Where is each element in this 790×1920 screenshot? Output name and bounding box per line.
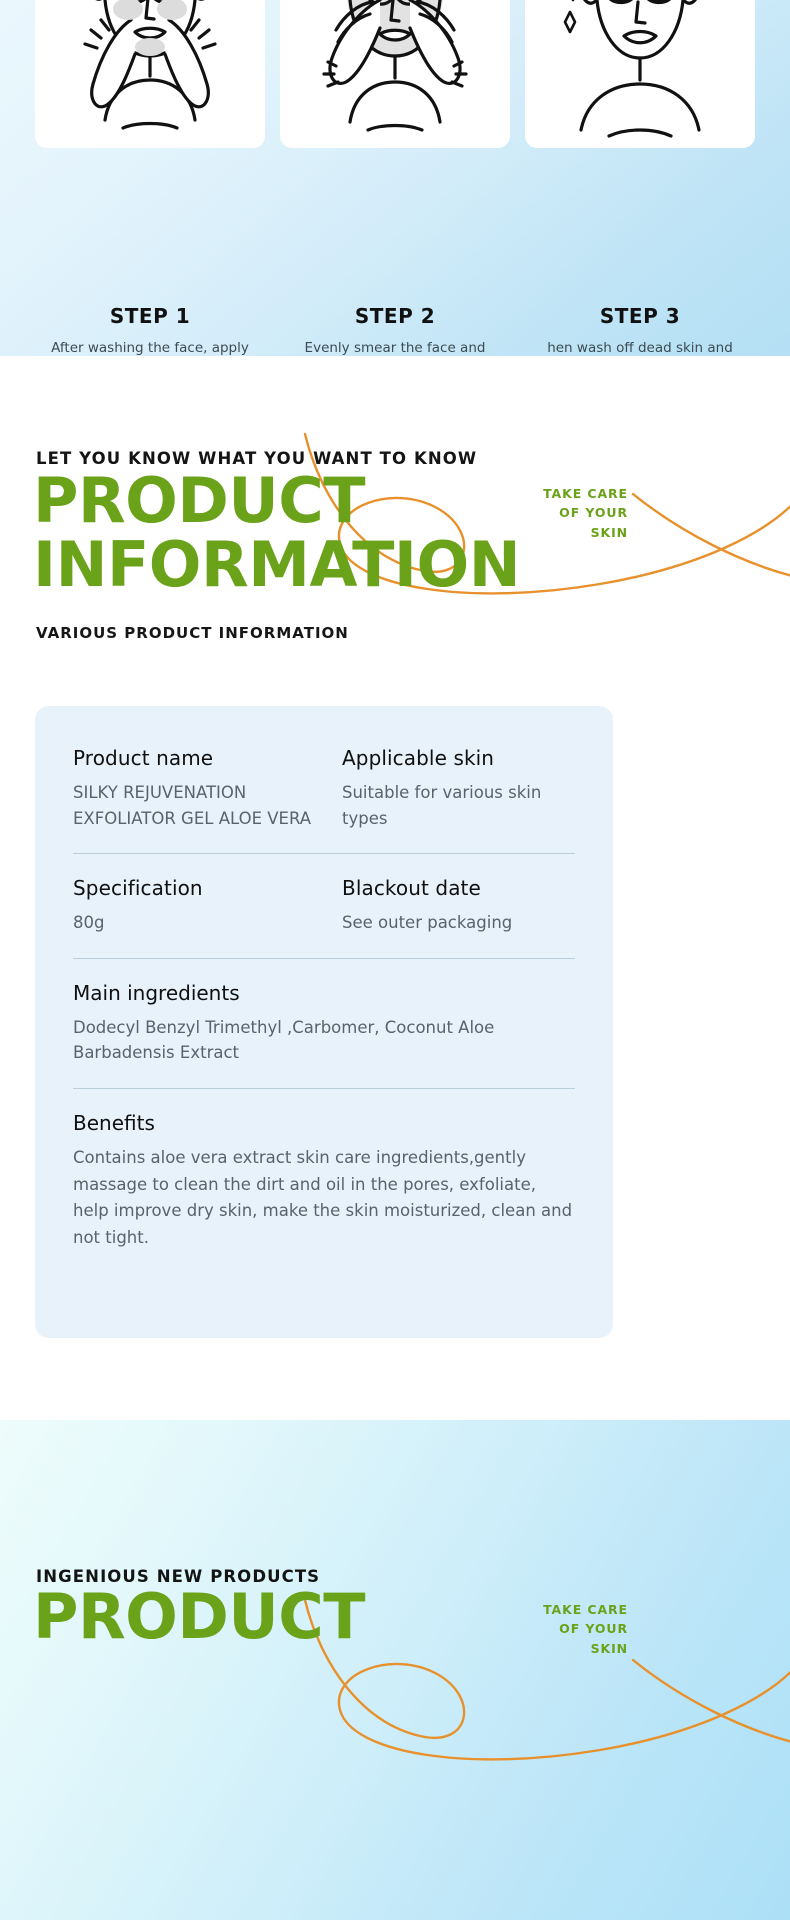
specification-label: Specification xyxy=(73,876,324,900)
details-row-1: Product name SILKY REJUVENATION EXFOLIAT… xyxy=(73,746,575,831)
step-card: STEP 3 hen wash off dead skin and cutin … xyxy=(525,0,755,356)
step-title: STEP 3 xyxy=(525,304,755,328)
row-divider xyxy=(73,853,575,854)
main-ingredients-label: Main ingredients xyxy=(73,981,575,1005)
usage-steps-section: STEP 1 After washing the face, apply pro… xyxy=(0,0,790,356)
benefits-value: Contains aloe vera extract skin care ing… xyxy=(73,1145,575,1252)
page-title-line2: INFORMATION xyxy=(33,533,520,597)
woman-applying-product-icon xyxy=(35,0,265,148)
step-title: STEP 2 xyxy=(280,304,510,328)
specification-field: Specification 80g xyxy=(73,876,324,936)
step-description: After washing the face, apply proper amo… xyxy=(35,338,265,356)
take-care-badge-2: TAKE CARE OF YOUR SKIN xyxy=(518,1600,628,1658)
step-description: hen wash off dead skin and cutin for nor… xyxy=(525,338,755,356)
benefits-label: Benefits xyxy=(73,1111,575,1135)
specification-value: 80g xyxy=(73,910,324,936)
step-title: STEP 1 xyxy=(35,304,265,328)
main-ingredients-field: Main ingredients Dodecyl Benzyl Trimethy… xyxy=(73,981,575,1066)
product-details-card: Product name SILKY REJUVENATION EXFOLIAT… xyxy=(35,706,613,1338)
take-care-badge: TAKE CARE OF YOUR SKIN xyxy=(518,484,628,542)
steps-row: STEP 1 After washing the face, apply pro… xyxy=(35,0,755,356)
details-row-2: Specification 80g Blackout date See oute… xyxy=(73,876,575,936)
product-name-value: SILKY REJUVENATION EXFOLIATOR GEL ALOE V… xyxy=(73,780,324,831)
main-ingredients-value: Dodecyl Benzyl Trimethyl ,Carbomer, Coco… xyxy=(73,1015,575,1066)
woman-massaging-face-icon xyxy=(280,0,510,148)
take-care-badge-line1: TAKE CARE xyxy=(518,484,628,503)
benefits-field: Benefits Contains aloe vera extract skin… xyxy=(73,1111,575,1252)
row-divider xyxy=(73,1088,575,1089)
page-title-line1: PRODUCT xyxy=(33,464,365,537)
blackout-date-field: Blackout date See outer packaging xyxy=(324,876,575,936)
section-subtitle: VARIOUS PRODUCT INFORMATION xyxy=(36,624,349,642)
blackout-date-label: Blackout date xyxy=(342,876,575,900)
applicable-skin-label: Applicable skin xyxy=(342,746,575,770)
step-2-illustration xyxy=(280,0,510,148)
step-card: STEP 2 Evenly smear the face and gently … xyxy=(280,0,510,356)
product-name-label: Product name xyxy=(73,746,324,770)
take-care-badge-2-line1: TAKE CARE xyxy=(518,1600,628,1619)
product-information-section: LET YOU KNOW WHAT YOU WANT TO KNOW PRODU… xyxy=(0,356,790,1420)
woman-clean-glowing-face-icon xyxy=(525,0,755,148)
step-1-illustration xyxy=(35,0,265,148)
new-products-section: INGENIOUS NEW PRODUCTS PRODUCT TAKE CARE… xyxy=(0,1420,790,1920)
row-divider xyxy=(73,958,575,959)
product-name-field: Product name SILKY REJUVENATION EXFOLIAT… xyxy=(73,746,324,831)
step-description: Evenly smear the face and gently massage… xyxy=(280,338,510,356)
orange-swirl-decoration-2 xyxy=(0,1420,790,1920)
new-products-title: PRODUCT xyxy=(33,1585,365,1649)
blackout-date-value: See outer packaging xyxy=(342,910,575,936)
page-title: PRODUCT INFORMATION xyxy=(33,469,520,597)
step-card: STEP 1 After washing the face, apply pro… xyxy=(35,0,265,356)
applicable-skin-field: Applicable skin Suitable for various ski… xyxy=(324,746,575,831)
step-3-illustration xyxy=(525,0,755,148)
take-care-badge-line2: OF YOUR SKIN xyxy=(518,503,628,542)
applicable-skin-value: Suitable for various skin types xyxy=(342,780,575,831)
take-care-badge-2-line2: OF YOUR SKIN xyxy=(518,1619,628,1658)
product-information-page: STEP 1 After washing the face, apply pro… xyxy=(0,0,790,1920)
